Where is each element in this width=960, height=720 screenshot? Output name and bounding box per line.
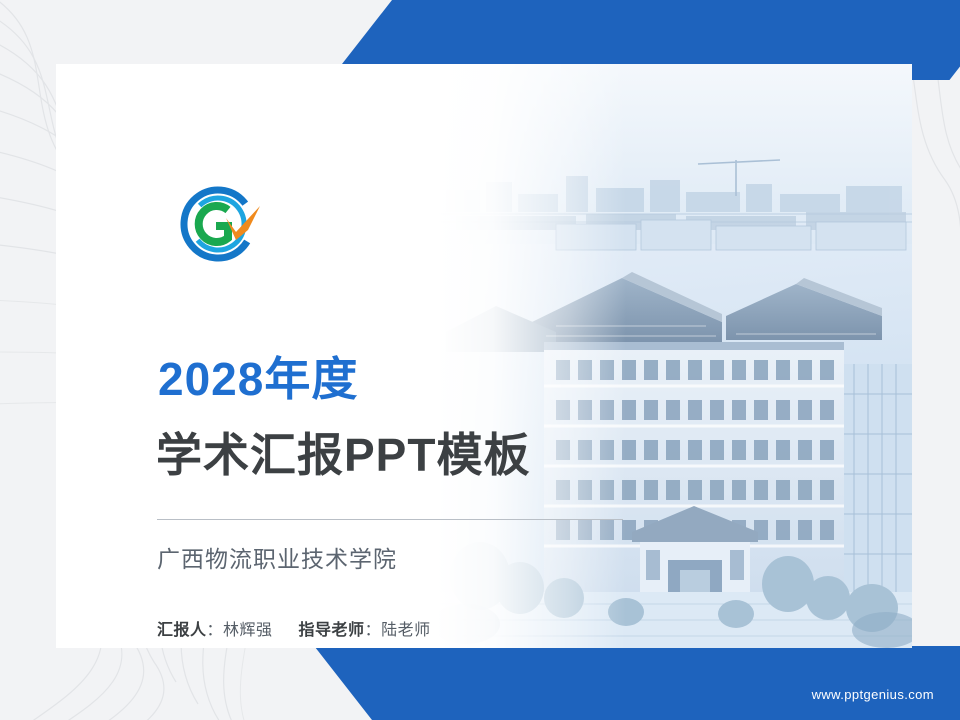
page-title-year: 2028年度 bbox=[158, 356, 358, 402]
campus-photo bbox=[436, 64, 912, 648]
school-logo bbox=[156, 184, 284, 268]
advisor-name: 陆老师 bbox=[381, 622, 431, 639]
footer-website-url: www.pptgenius.com bbox=[812, 687, 934, 702]
advisor-separator: ： bbox=[365, 622, 382, 639]
blue-band-top bbox=[430, 0, 960, 62]
blue-band-bottom bbox=[410, 646, 960, 720]
school-logo-icon bbox=[156, 184, 284, 268]
slide-card: 2028年度 学术汇报PPT模板 广西物流职业技术学院 汇报人：林辉强指导老师：… bbox=[56, 64, 912, 648]
presenter-name: 林辉强 bbox=[223, 622, 273, 639]
presenter-meta: 汇报人：林辉强指导老师：陆老师 bbox=[157, 616, 431, 640]
presenter-label: 汇报人 bbox=[157, 622, 207, 639]
photo-left-fade bbox=[436, 64, 626, 648]
school-name: 广西物流职业技术学院 bbox=[157, 540, 397, 574]
advisor-label: 指导老师 bbox=[299, 622, 365, 639]
page-title-main: 学术汇报PPT模板 bbox=[156, 432, 530, 478]
title-divider bbox=[157, 519, 623, 520]
presenter-separator: ： bbox=[207, 622, 224, 639]
presentation-slide: 2028年度 学术汇报PPT模板 广西物流职业技术学院 汇报人：林辉强指导老师：… bbox=[0, 0, 960, 720]
